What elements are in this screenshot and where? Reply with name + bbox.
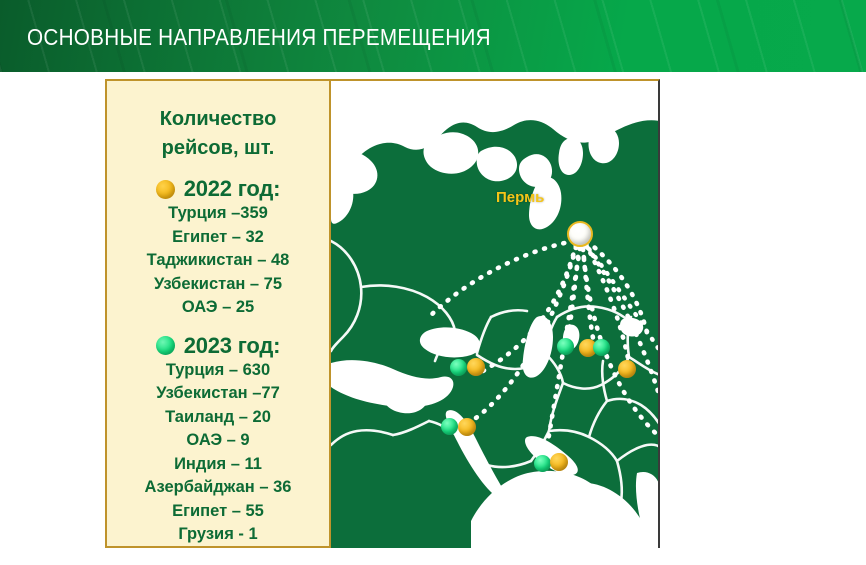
legend-bullet-2022-icon	[156, 180, 175, 199]
legend-group-2022: 2022 год: Турция –359 Египет – 32 Таджик…	[107, 163, 329, 320]
content-frame: Количество рейсов, шт. 2022 год: Турция …	[105, 79, 660, 548]
header-banner: ОСНОВНЫЕ НАПРАВЛЕНИЯ ПЕРЕМЕЩЕНИЯ	[0, 0, 866, 72]
map-city-label-perm: Пермь	[496, 189, 544, 206]
legend-heading-line2: рейсов, шт.	[162, 134, 275, 163]
map-marker-uae-2023[interactable]	[534, 455, 551, 472]
page-title: ОСНОВНЫЕ НАПРАВЛЕНИЯ ПЕРЕМЕЩЕНИЯ	[27, 24, 491, 51]
list-item: ОАЭ – 25	[107, 296, 329, 320]
legend-year-row-2022: 2022 год:	[107, 176, 329, 202]
world-map-graphic	[331, 81, 660, 548]
list-item: Турция – 630	[107, 359, 329, 383]
legend-year-label-2023: 2023 год:	[184, 333, 281, 359]
map-marker-tajikistan-2023[interactable]	[593, 339, 610, 356]
legend-panel: Количество рейсов, шт. 2022 год: Турция …	[105, 79, 331, 548]
map-marker-egypt-2022[interactable]	[458, 418, 476, 436]
list-item: Таджикистан – 48	[107, 249, 329, 273]
map-marker-turkey-2022[interactable]	[467, 358, 485, 376]
legend-year-row-2023: 2023 год:	[107, 333, 329, 359]
list-item: Египет – 55	[107, 500, 329, 524]
map-panel: Пермь	[331, 79, 660, 548]
list-item: Узбекистан –77	[107, 382, 329, 406]
map-marker-tajikistan-2022[interactable]	[618, 360, 636, 378]
list-item: Узбекистан – 75	[107, 273, 329, 297]
map-marker-egypt-2023[interactable]	[441, 418, 458, 435]
map-marker-uzbekistan-2023[interactable]	[557, 338, 574, 355]
list-item: Грузия - 1	[107, 523, 329, 547]
map-marker-uae-2022[interactable]	[550, 453, 568, 471]
legend-heading-line1: Количество	[160, 105, 277, 134]
list-item: Египет – 32	[107, 226, 329, 250]
list-item: Таиланд – 20	[107, 406, 329, 430]
list-item: Азербайджан – 36	[107, 476, 329, 500]
legend-group-2023: 2023 год: Турция – 630 Узбекистан –77 Та…	[107, 320, 329, 547]
legend-year-label-2022: 2022 год:	[184, 176, 281, 202]
list-item: Турция –359	[107, 202, 329, 226]
list-item: Индия – 11	[107, 453, 329, 477]
map-hub-marker-perm[interactable]	[567, 221, 593, 247]
map-marker-turkey-2023[interactable]	[450, 359, 467, 376]
list-item: ОАЭ – 9	[107, 429, 329, 453]
legend-bullet-2023-icon	[156, 336, 175, 355]
